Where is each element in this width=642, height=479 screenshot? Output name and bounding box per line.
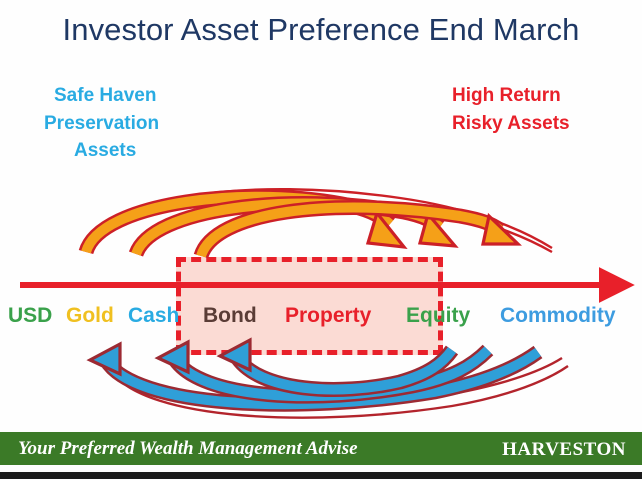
asset-label-bond[interactable]: Bond <box>203 305 257 326</box>
inflow-arrow-3 <box>201 207 518 256</box>
asset-label-gold[interactable]: Gold <box>66 305 114 326</box>
asset-label-commodity[interactable]: Commodity <box>500 305 616 326</box>
asset-label-cash[interactable]: Cash <box>128 305 179 326</box>
footer-brand: HARVESTON <box>502 439 626 461</box>
footer-tagline: Your Preferred Wealth Management Advise <box>18 438 358 460</box>
flow-arrows-overlay <box>0 0 642 479</box>
slide-canvas: Investor Asset Preference End March Safe… <box>0 0 642 479</box>
asset-label-equity[interactable]: Equity <box>406 305 470 326</box>
asset-label-property[interactable]: Property <box>285 305 371 326</box>
asset-label-usd[interactable]: USD <box>8 305 52 326</box>
outflow-arrow-3 <box>220 340 452 389</box>
bottom-strip <box>0 472 642 479</box>
footer-bar: Your Preferred Wealth Management Advise … <box>0 432 642 465</box>
